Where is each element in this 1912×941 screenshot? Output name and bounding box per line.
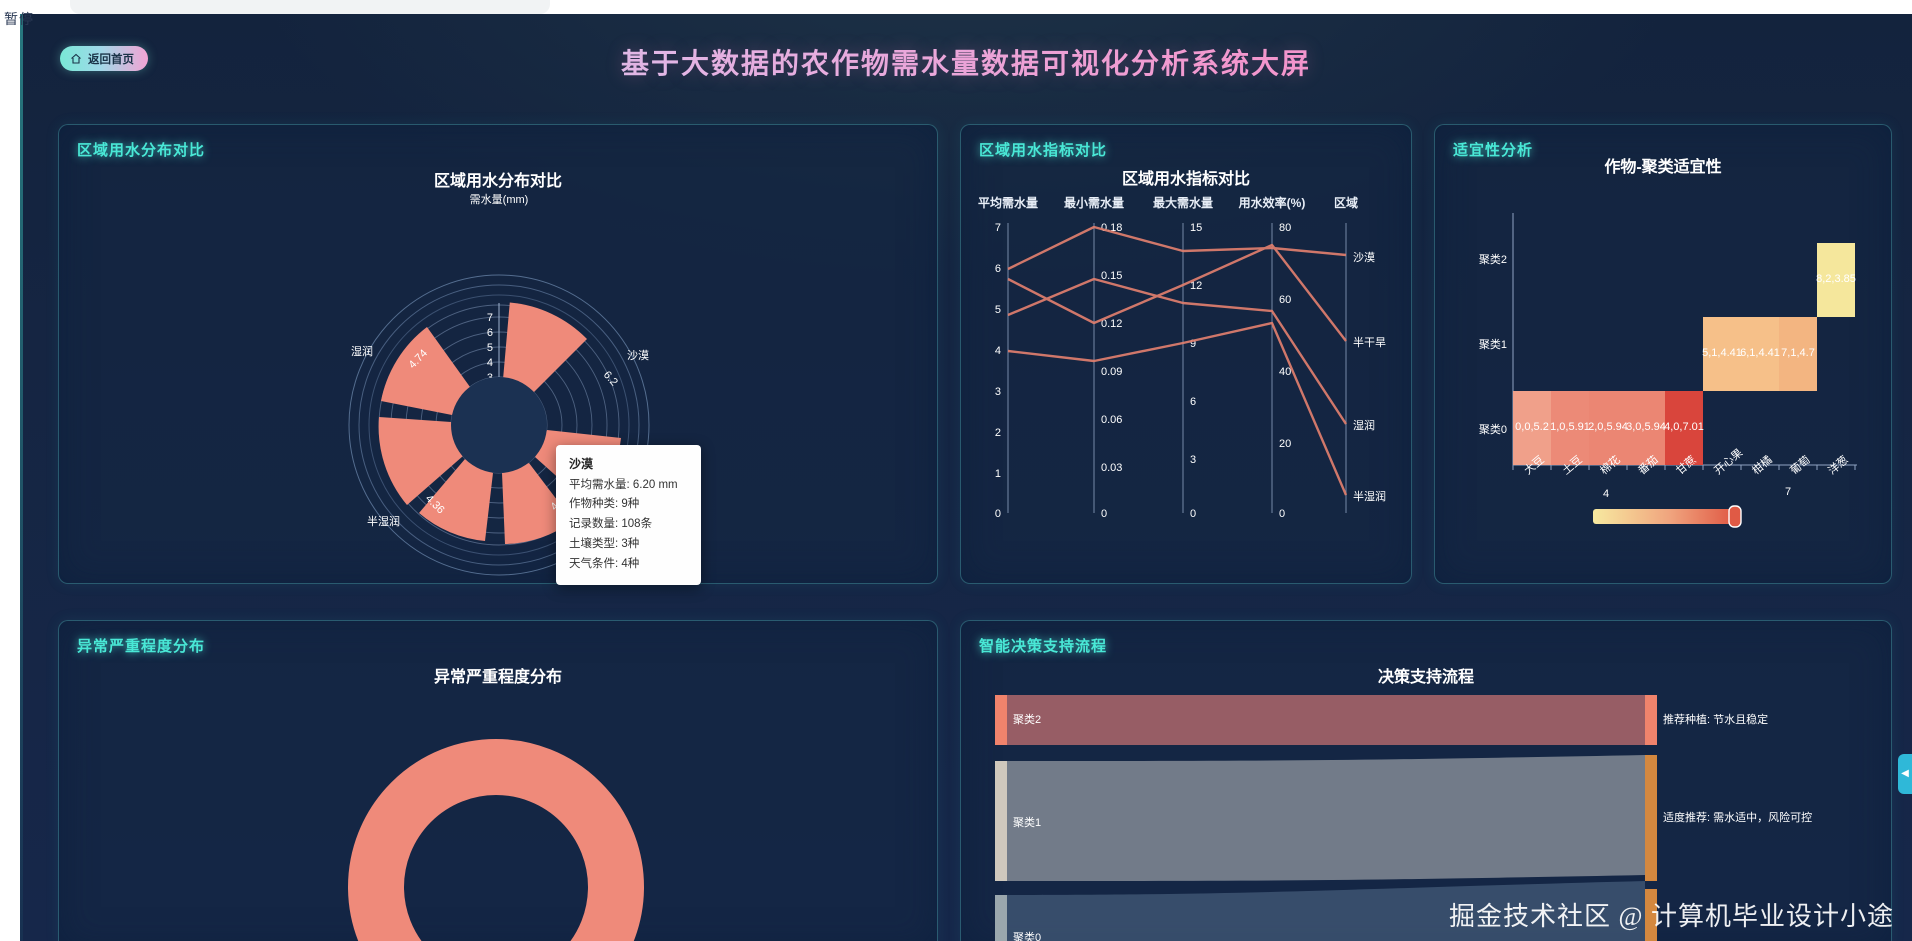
heatmap-axis-right-tick: 7 xyxy=(1785,486,1791,498)
pc-a0-t7: 7 xyxy=(995,222,1001,234)
pc-line-desert[interactable] xyxy=(1008,227,1346,269)
heatmap-cell-0: 0,0,5.2 xyxy=(1515,421,1549,433)
svg-text:6: 6 xyxy=(487,327,493,339)
heatmap-cell-7: 7,1,4.7 xyxy=(1781,347,1815,359)
pc-axis-name-0: 平均需水量 xyxy=(978,195,1038,210)
heatmap-visualmap-slider[interactable] xyxy=(1593,506,1741,527)
heatmap-row-cluster2[interactable]: 8,2,3.85 xyxy=(1816,243,1856,317)
heatmap-cell-3: 3,0,5.94 xyxy=(1626,421,1666,433)
tooltip-row-records: 记录数量: 108条 xyxy=(569,515,690,535)
chevron-left-icon: ◀ xyxy=(1901,769,1909,779)
tooltip-title: 沙漠 xyxy=(569,454,690,475)
pc-a3-t0: 0 xyxy=(1279,508,1285,520)
region-rose-chart[interactable]: 需水量(mm) 0 1 2 3 4 5 xyxy=(59,183,939,583)
watermark: 掘金技术社区 @ 计算机毕业设计小途 xyxy=(1449,896,1894,933)
sankey-label-moderate: 适度推荐: 需水适中，风险可控 xyxy=(1663,810,1812,824)
pc-axis-name-4: 区域 xyxy=(1334,195,1358,210)
sankey-node-cluster1[interactable] xyxy=(995,761,1007,881)
dashboard-header: 返回首页 基于大数据的农作物需水量数据可视化分析系统大屏 xyxy=(20,14,1912,86)
sankey-node-recommend[interactable] xyxy=(1645,695,1657,745)
page-title: 基于大数据的农作物需水量数据可视化分析系统大屏 xyxy=(20,42,1912,82)
pc-a0-t0: 0 xyxy=(995,508,1001,520)
crop-cluster-heatmap[interactable]: 聚类2 聚类1 聚类0 0,0,5.2 1,0,5.91 2,0,5.94 3,… xyxy=(1435,175,1893,575)
pc-a1-t0: 0 xyxy=(1101,508,1107,520)
sankey-node-cluster2[interactable] xyxy=(995,695,1007,745)
rose-label-desert: 沙漠 xyxy=(627,349,649,362)
pc-line-subhumid[interactable] xyxy=(1008,323,1346,495)
parallel-coordinates-chart[interactable]: 平均需水量 最小需水量 最大需水量 用水效率(%) 区域 7 6 5 4 3 2 xyxy=(961,183,1413,573)
svg-text:7: 7 xyxy=(487,312,493,324)
pc-a2-t1: 3 xyxy=(1190,454,1196,466)
sankey-node-cluster0[interactable] xyxy=(995,895,1007,941)
pc-a4-humid: 湿润 xyxy=(1353,418,1375,432)
panel-decision-support-flow: 智能决策支持流程 决策支持流程 聚类2 聚类1 聚类0 xyxy=(960,620,1892,941)
pc-a3-t1: 20 xyxy=(1279,438,1291,450)
pc-a0-t4: 4 xyxy=(995,345,1001,357)
panel-title-region: 区域用水分布对比 xyxy=(77,139,205,160)
panel-anomaly-severity: 异常严重程度分布 异常严重程度分布 中度异常 xyxy=(58,620,938,941)
pc-axis-name-3: 用水效率(%) xyxy=(1238,195,1306,210)
sankey-node-moderate[interactable] xyxy=(1645,755,1657,881)
sankey-left-nodes[interactable] xyxy=(995,695,1007,941)
heatmap-cell-1: 1,0,5.91 xyxy=(1550,421,1590,433)
browser-top-strip xyxy=(0,0,1912,14)
pc-a1-t5: 0.15 xyxy=(1101,270,1122,282)
pc-a4-desert: 沙漠 xyxy=(1353,251,1375,264)
sankey-label-cluster0: 聚类0 xyxy=(1013,930,1041,941)
heatmap-cell-8: 8,2,3.85 xyxy=(1816,273,1856,285)
chart-title-heatmap: 作物-聚类适宜性 xyxy=(1435,153,1891,177)
heatmap-cell-2: 2,0,5.94 xyxy=(1588,421,1628,433)
svg-text:5: 5 xyxy=(487,342,493,354)
tooltip-row-soil: 土壤类型: 3种 xyxy=(569,535,690,555)
pc-a3-t4: 80 xyxy=(1279,222,1291,234)
donut-ring-moderate[interactable] xyxy=(376,767,616,941)
pc-a0-t1: 1 xyxy=(995,468,1001,480)
pc-a2-t2: 6 xyxy=(1190,396,1196,408)
sankey-label-cluster1: 聚类1 xyxy=(1013,815,1041,829)
sankey-link-cluster1[interactable] xyxy=(1007,755,1645,881)
dashboard-screen: 返回首页 基于大数据的农作物需水量数据可视化分析系统大屏 区域用水分布对比 区域… xyxy=(20,14,1912,941)
heatmap-ylabel-0: 聚类0 xyxy=(1479,422,1507,436)
panel-title-index: 区域用水指标对比 xyxy=(979,139,1107,160)
pc-a1-t3: 0.09 xyxy=(1101,366,1122,378)
sankey-link-cluster2[interactable] xyxy=(1007,695,1645,745)
pc-a1-t2: 0.06 xyxy=(1101,414,1122,426)
side-drawer-toggle[interactable]: ◀ xyxy=(1898,754,1912,794)
pc-a3-t2: 40 xyxy=(1279,366,1291,378)
heatmap-row-cluster0[interactable]: 0,0,5.2 1,0,5.91 2,0,5.94 3,0,5.94 4,0,7… xyxy=(1513,391,1704,465)
heatmap-cell-6: 6,1,4.41 xyxy=(1740,347,1780,359)
pc-a0-t6: 6 xyxy=(995,263,1001,275)
panel-title-decision: 智能决策支持流程 xyxy=(979,635,1107,656)
rose-label-subhumid: 半湿润 xyxy=(367,514,400,528)
heatmap-xlabel-6: 柑橘 xyxy=(1749,452,1775,477)
pc-axis-name-2: 最大需水量 xyxy=(1153,195,1213,210)
rose-label-humid: 湿润 xyxy=(351,344,373,358)
rose-chart-tooltip: 沙漠 平均需水量: 6.20 mm 作物种类: 9种 记录数量: 108条 土壤… xyxy=(556,445,701,585)
chart-title-anomaly: 异常严重程度分布 xyxy=(59,663,937,687)
pc-a4-subhumid: 半湿润 xyxy=(1353,489,1386,503)
heatmap-ylabel-1: 聚类1 xyxy=(1479,337,1507,351)
heatmap-xlabel-5: 开心果 xyxy=(1712,446,1746,477)
pc-a2-t5: 15 xyxy=(1190,222,1202,234)
pc-a3-t3: 60 xyxy=(1279,294,1291,306)
tooltip-row-crops: 作物种类: 9种 xyxy=(569,495,690,515)
anomaly-donut-chart[interactable] xyxy=(59,687,939,941)
pc-a0-t2: 2 xyxy=(995,427,1001,439)
pc-line-humid[interactable] xyxy=(1008,279,1346,424)
pause-label: 暂停 xyxy=(4,9,34,29)
pc-a1-t1: 0.03 xyxy=(1101,462,1122,474)
sankey-label-recommend: 推荐种植: 节水且稳定 xyxy=(1663,712,1768,726)
pc-a2-t0: 0 xyxy=(1190,508,1196,520)
rose-axis-name: 需水量(mm) xyxy=(470,193,529,206)
tooltip-row-avg: 平均需水量: 6.20 mm xyxy=(569,476,690,496)
pc-axis-name-1: 最小需水量 xyxy=(1064,195,1124,210)
chart-title-decision: 决策支持流程 xyxy=(961,663,1891,687)
pc-a0-t3: 3 xyxy=(995,386,1001,398)
heatmap-xlabel-8: 洋葱 xyxy=(1825,452,1851,477)
heatmap-cell-5: 5,1,4.41 xyxy=(1702,347,1742,359)
panel-title-anomaly: 异常严重程度分布 xyxy=(77,635,205,656)
heatmap-xlabel-7: 葡萄 xyxy=(1788,453,1813,477)
heatmap-row-cluster1[interactable]: 5,1,4.41 6,1,4.41 7,1,4.7 xyxy=(1702,317,1817,391)
pc-a0-t5: 5 xyxy=(995,304,1001,316)
heatmap-cell-4: 4,0,7.01 xyxy=(1664,421,1704,433)
heatmap-axis-mid-tick: 4 xyxy=(1603,488,1609,500)
panel-region-water-distribution: 区域用水分布对比 区域用水分布对比 需水量(mm) 0 1 2 xyxy=(58,124,938,584)
tooltip-row-weather: 天气条件: 4种 xyxy=(569,555,690,575)
svg-text:4: 4 xyxy=(487,357,493,369)
panel-region-index-comparison: 区域用水指标对比 区域用水指标对比 平均需水量 最小需水量 最大需水量 用水效率… xyxy=(960,124,1412,584)
sankey-label-cluster2: 聚类2 xyxy=(1013,712,1041,726)
panel-suitability-analysis: 适宜性分析 作物-聚类适宜性 聚类2 聚类1 聚类0 0,0,5.2 1,0,5… xyxy=(1434,124,1892,584)
pc-a4-semiarid: 半干旱 xyxy=(1353,335,1386,349)
heatmap-ylabel-2: 聚类2 xyxy=(1479,252,1507,266)
